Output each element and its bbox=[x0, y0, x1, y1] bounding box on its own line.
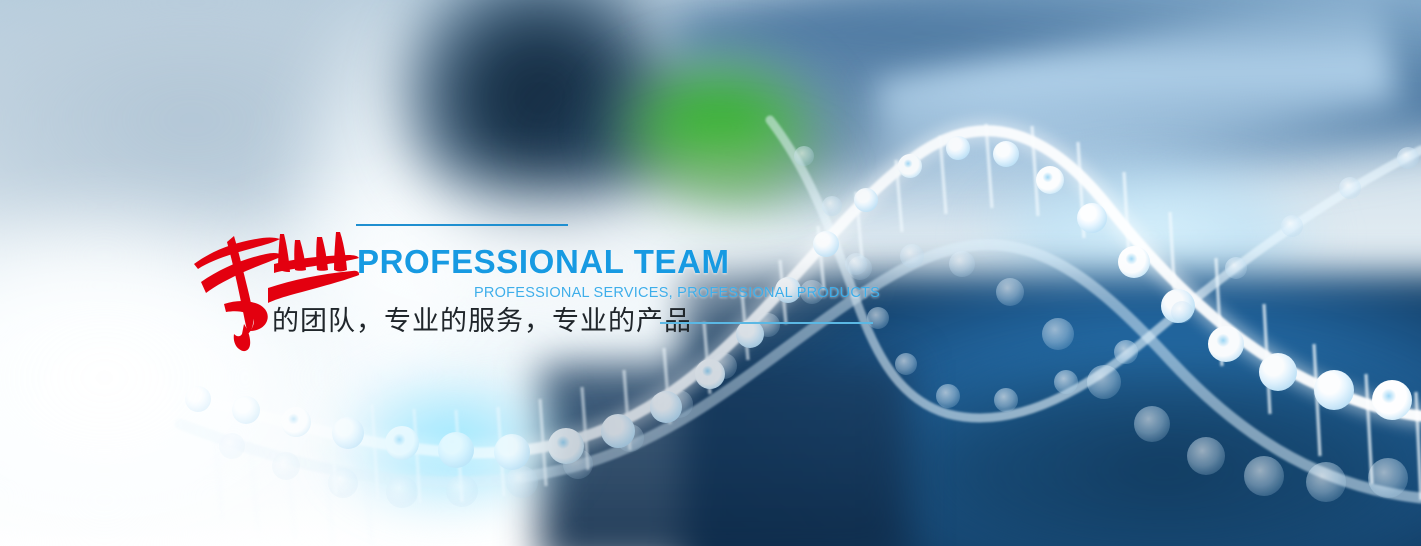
divider-line-top bbox=[356, 224, 568, 226]
page-subtitle: PROFESSIONAL SERVICES, PROFESSIONAL PROD… bbox=[474, 286, 880, 301]
hero-banner: PROFESSIONAL TEAM PROFESSIONAL SERVICES,… bbox=[0, 0, 1421, 546]
divider-line-bottom bbox=[660, 322, 873, 324]
page-title: PROFESSIONAL TEAM bbox=[357, 245, 730, 278]
chinese-tagline: 的团队，专业的服务，专业的产品 bbox=[272, 305, 692, 339]
headline-group: PROFESSIONAL TEAM PROFESSIONAL SERVICES,… bbox=[0, 0, 1421, 546]
